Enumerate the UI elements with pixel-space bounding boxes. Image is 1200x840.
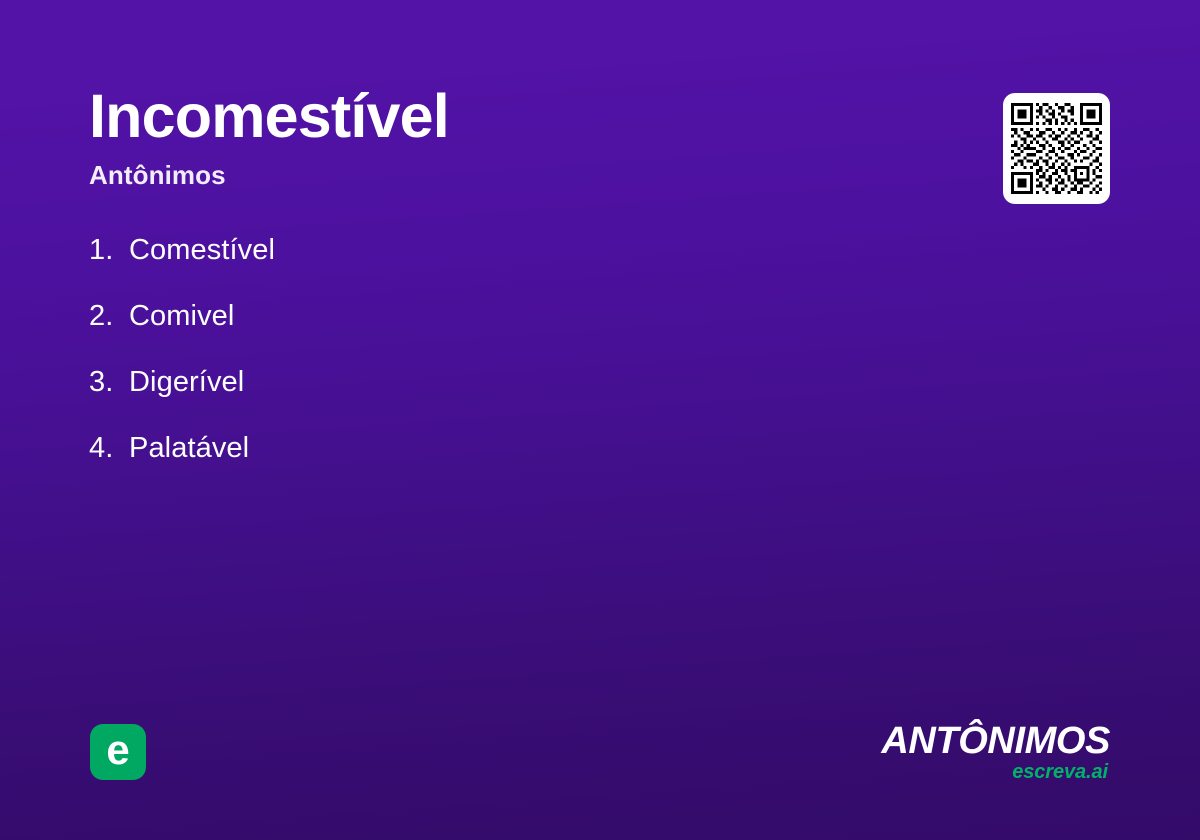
list-item-word: Palatável [129, 434, 249, 463]
list-item-index: 3. [89, 368, 129, 397]
header: Incomestível Antônimos [89, 84, 909, 189]
qr-code-icon [1011, 101, 1102, 196]
page-subtitle: Antônimos [89, 161, 909, 190]
page-title: Incomestível [89, 84, 909, 149]
escreva-logo-icon[interactable]: e [90, 724, 146, 780]
list-item: 4. Palatável [89, 434, 849, 500]
list-item-index: 2. [89, 302, 129, 331]
brand-wordmark: ANTÔNIMOS escreva.ai [881, 722, 1110, 782]
list-item-index: 4. [89, 434, 129, 463]
qr-code[interactable] [1003, 93, 1110, 204]
list-item-word: Comivel [129, 302, 234, 331]
list-item: 2. Comivel [89, 302, 849, 368]
list-item-word: Digerível [129, 368, 244, 397]
wordmark-title: ANTÔNIMOS [881, 722, 1110, 760]
antonyms-list: 1. Comestível 2. Comivel 3. Digerível 4.… [89, 236, 849, 500]
wordmark-subtitle: escreva.ai [881, 762, 1108, 782]
list-item-index: 1. [89, 236, 129, 265]
list-item-word: Comestível [129, 236, 275, 265]
list-item: 1. Comestível [89, 236, 849, 302]
antonyms-card: Incomestível Antônimos 1. Comestível 2. … [0, 0, 1200, 840]
escreva-logo-letter: e [106, 729, 129, 771]
list-item: 3. Digerível [89, 368, 849, 434]
